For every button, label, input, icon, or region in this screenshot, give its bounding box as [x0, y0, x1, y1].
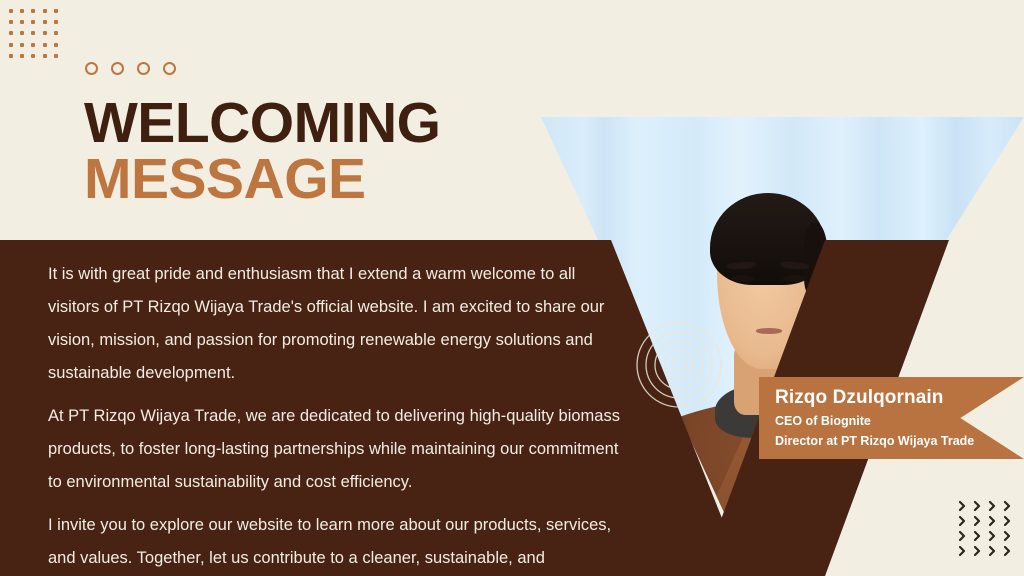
dot-grid-pattern: [9, 9, 65, 65]
grid-dot: [43, 31, 47, 35]
grid-dot: [20, 54, 24, 58]
photo-mouth: [756, 328, 783, 334]
grid-dot: [54, 43, 58, 47]
grid-dot: [20, 31, 24, 35]
page-title: WELCOMING MESSAGE: [84, 96, 440, 208]
grid-dot: [31, 31, 35, 35]
grid-dot: [20, 20, 24, 24]
grid-dot: [9, 43, 13, 47]
circle-ornament-icon: [111, 62, 124, 75]
page-title-line-1: WELCOMING: [84, 96, 440, 152]
grid-dot: [9, 54, 13, 58]
page-title-line-2: MESSAGE: [84, 152, 440, 208]
grid-dot: [43, 54, 47, 58]
circle-ornament-icon: [163, 62, 176, 75]
body-paragraph-1: It is with great pride and enthusiasm th…: [48, 258, 626, 390]
grid-dot: [54, 31, 58, 35]
grid-dot: [43, 43, 47, 47]
grid-dot: [31, 43, 35, 47]
grid-dot: [43, 20, 47, 24]
grid-dot: [31, 9, 35, 13]
grid-dot: [9, 31, 13, 35]
body-copy: It is with great pride and enthusiasm th…: [48, 258, 626, 576]
body-paragraph-3: I invite you to explore our website to l…: [48, 509, 626, 576]
circle-ornament-icon: [137, 62, 150, 75]
grid-dot: [20, 9, 24, 13]
grid-dot: [54, 20, 58, 24]
grid-dot: [54, 9, 58, 13]
grid-dot: [9, 20, 13, 24]
grid-dot: [20, 43, 24, 47]
circle-row-ornament: [85, 62, 176, 75]
grid-dot: [43, 9, 47, 13]
grid-dot: [9, 9, 13, 13]
circle-ornament-icon: [85, 62, 98, 75]
chevron-pattern: [958, 500, 1014, 562]
grid-dot: [31, 54, 35, 58]
body-paragraph-2: At PT Rizqo Wijaya Trade, we are dedicat…: [48, 400, 626, 499]
grid-dot: [31, 20, 35, 24]
welcoming-message-slide: WELCOMING MESSAGE: [0, 0, 1024, 576]
grid-dot: [54, 54, 58, 58]
